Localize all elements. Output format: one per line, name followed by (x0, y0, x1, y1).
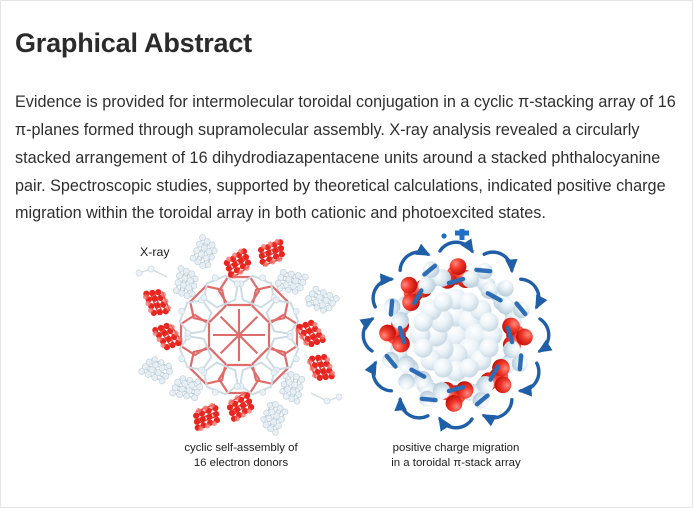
figure-panel-charge-migration: positive charge migration in a toroidal … (341, 229, 571, 487)
caption-left-line-2: 16 electron donors (126, 456, 356, 471)
figure-caption-right: positive charge migration in a toroidal … (341, 441, 571, 470)
figure-panel-xray: X-ray cyclic self-assembly of 16 electro… (126, 229, 356, 487)
graphical-abstract-figure: X-ray cyclic self-assembly of 16 electro… (1, 229, 692, 487)
xray-label: X-ray (140, 245, 170, 259)
xray-structure-illustration: X-ray (126, 229, 356, 441)
abstract-paragraph: Evidence is provided for intermolecular … (15, 89, 677, 228)
caption-left-line-1: cyclic self-assembly of (126, 441, 356, 456)
page-title: Graphical Abstract (15, 25, 252, 61)
positive-charge-symbol (441, 229, 469, 240)
charge-migration-illustration (341, 229, 571, 441)
graphical-abstract-page: Graphical Abstract Evidence is provided … (0, 0, 693, 508)
figure-caption-left: cyclic self-assembly of 16 electron dono… (126, 441, 356, 470)
caption-right-line-1: positive charge migration (341, 441, 571, 456)
caption-right-line-2: in a toroidal π-stack array (341, 456, 571, 471)
